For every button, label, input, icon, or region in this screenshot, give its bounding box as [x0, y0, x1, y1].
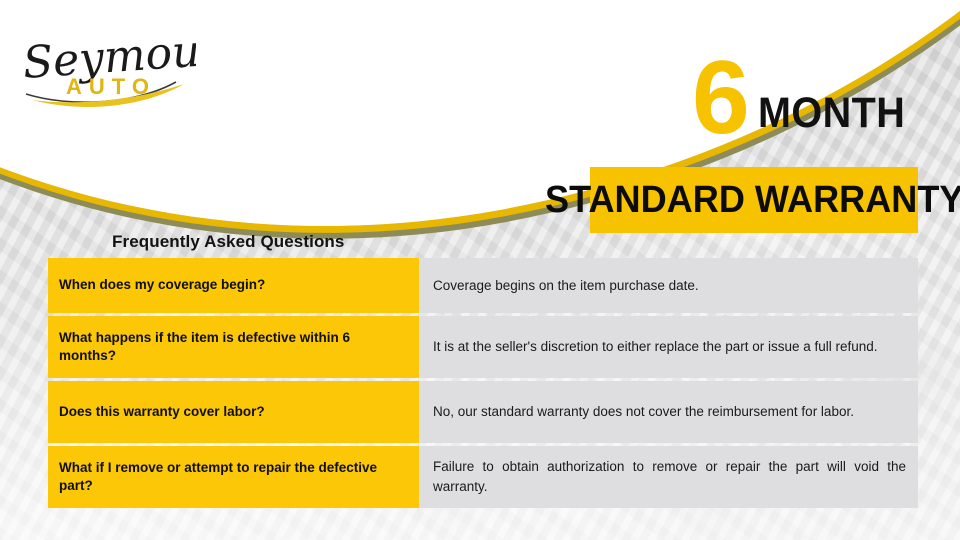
faq-answer-cell: Coverage begins on the item purchase dat… — [415, 258, 918, 313]
standard-warranty-band: STANDARD WARRANTY — [590, 167, 918, 233]
seymour-auto-logo: Seymour AUTO — [16, 16, 196, 116]
faq-question-cell: What if I remove or attempt to repair th… — [48, 446, 415, 508]
faq-table: When does my coverage begin? Coverage be… — [48, 258, 918, 511]
table-row: Does this warranty cover labor? No, our … — [48, 381, 918, 443]
faq-answer-text: It is at the seller's discretion to eith… — [433, 337, 906, 357]
warranty-slide: Seymour AUTO 6 MONTH STANDARD WARRANTY F… — [0, 0, 960, 540]
standard-warranty-label: STANDARD WARRANTY — [545, 179, 960, 222]
warranty-period-label: MONTH — [758, 92, 905, 141]
faq-heading: Frequently Asked Questions — [112, 232, 344, 252]
faq-answer-cell: Failure to obtain authorization to remov… — [415, 446, 918, 508]
faq-answer-text: Failure to obtain authorization to remov… — [433, 457, 906, 496]
warranty-month-number: 6 — [692, 56, 748, 141]
faq-answer-cell: It is at the seller's discretion to eith… — [415, 316, 918, 378]
faq-answer-cell: No, our standard warranty does not cover… — [415, 381, 918, 443]
table-row: What happens if the item is defective wi… — [48, 316, 918, 378]
faq-question-cell: When does my coverage begin? — [48, 258, 415, 313]
faq-question-cell: Does this warranty cover labor? — [48, 381, 415, 443]
table-row: When does my coverage begin? Coverage be… — [48, 258, 918, 313]
warranty-headline: 6 MONTH — [692, 56, 918, 141]
faq-answer-text: Coverage begins on the item purchase dat… — [433, 276, 906, 296]
svg-text:AUTO: AUTO — [66, 74, 156, 99]
faq-question-cell: What happens if the item is defective wi… — [48, 316, 415, 378]
faq-answer-text: No, our standard warranty does not cover… — [433, 402, 906, 422]
table-row: What if I remove or attempt to repair th… — [48, 446, 918, 508]
